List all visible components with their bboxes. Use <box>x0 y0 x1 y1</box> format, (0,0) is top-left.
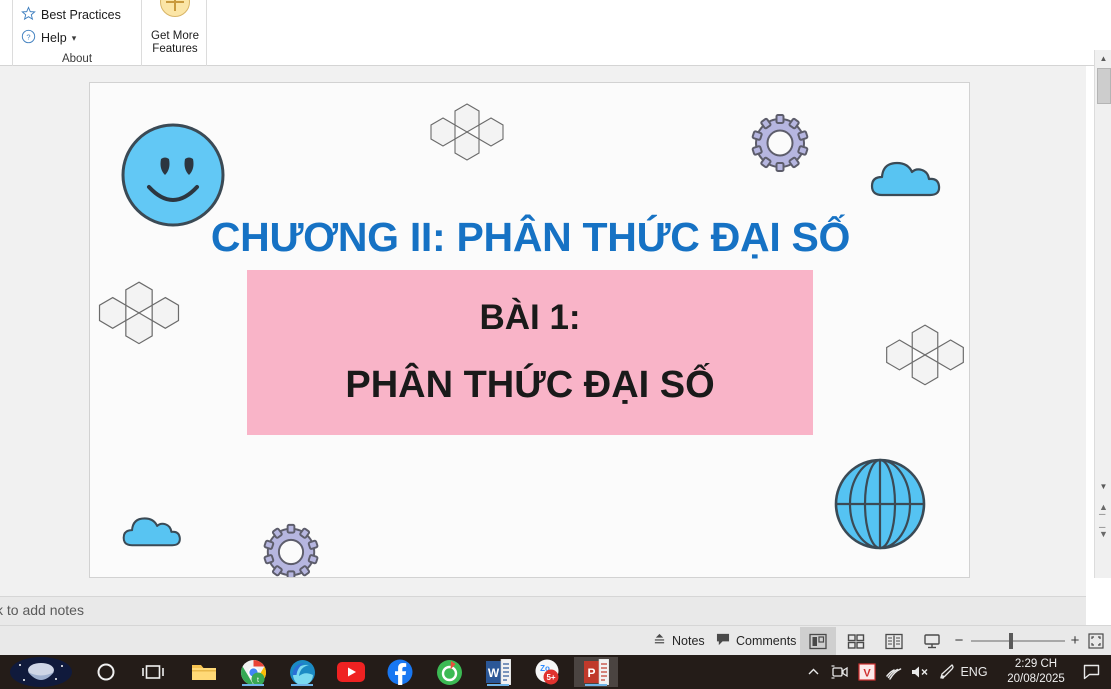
gear-top-right-icon[interactable] <box>749 112 811 179</box>
clock-widget[interactable]: 2:29 CH 20/08/2025 <box>999 655 1073 689</box>
clock-time: 2:29 CH <box>1015 657 1057 672</box>
ribbon-group-about: Best Practices ? Help ▾ About <box>12 0 142 66</box>
svg-text:V: V <box>863 668 871 680</box>
get-more-features-line2: Features <box>152 43 197 56</box>
vertical-scrollbar[interactable]: ▲ ▼ ▲─ ─▼ <box>1094 50 1111 578</box>
v-app-icon[interactable]: V <box>854 655 880 689</box>
notes-label: Notes <box>672 634 705 648</box>
svg-text:W: W <box>487 666 499 680</box>
powerpoint-window: Best Practices ? Help ▾ About Get More F… <box>0 0 1111 689</box>
wifi-icon[interactable] <box>880 655 906 689</box>
cortana-search-icon[interactable] <box>84 657 128 687</box>
notes-placeholder-text: k to add notes <box>0 602 84 618</box>
notification-center-icon[interactable] <box>1075 655 1107 689</box>
svg-text:?: ? <box>26 33 30 42</box>
next-slide-icon[interactable]: ─▼ <box>1095 522 1111 539</box>
hexagon-cluster-right-icon[interactable] <box>884 323 966 394</box>
facebook-icon[interactable] <box>378 657 422 687</box>
volume-muted-icon[interactable] <box>906 655 934 689</box>
ribbon-bar: Best Practices ? Help ▾ About Get More F… <box>0 0 1111 66</box>
ribbon-group-label-about: About <box>13 53 141 65</box>
view-reading-button[interactable] <box>876 627 912 655</box>
microsoft-powerpoint-icon[interactable]: P <box>574 657 618 687</box>
zoom-out-button[interactable]: − <box>952 634 966 648</box>
notes-icon <box>653 633 666 649</box>
hexagon-cluster-left-icon[interactable] <box>96 280 182 353</box>
pen-input-icon[interactable] <box>934 655 960 689</box>
gear-bottom-icon[interactable] <box>261 522 321 578</box>
help-label: Help <box>41 31 67 45</box>
svg-text:P: P <box>587 666 595 680</box>
language-indicator[interactable]: ENG <box>958 655 990 689</box>
svg-text:t: t <box>257 677 259 684</box>
best-practices-button[interactable]: Best Practices <box>21 6 121 24</box>
clock-date: 20/08/2025 <box>1007 672 1065 687</box>
start-button[interactable] <box>8 657 74 687</box>
slide-title-text[interactable]: CHƯƠNG II: PHÂN THỨC ĐẠI SỐ <box>90 214 970 261</box>
status-bar: Notes Comments <box>0 625 1111 655</box>
hexagon-cluster-top-icon[interactable] <box>429 102 505 169</box>
star-icon <box>21 6 36 24</box>
microsoft-edge-icon[interactable] <box>280 657 324 687</box>
cloud-top-right-icon[interactable] <box>870 157 956 204</box>
get-more-features-button[interactable]: Get More Features <box>143 0 207 66</box>
slide-canvas-area: CHƯƠNG II: PHÂN THỨC ĐẠI SỐ BÀI 1: PHÂN … <box>0 66 1086 596</box>
scrollbar-thumb[interactable] <box>1097 68 1111 104</box>
zoom-meetings-icon[interactable]: Zo 5+ <box>525 657 569 687</box>
slide-subtitle-box[interactable]: BÀI 1: PHÂN THỨC ĐẠI SỐ <box>247 270 813 435</box>
youtube-icon[interactable] <box>329 657 373 687</box>
comments-toggle-button[interactable]: Comments <box>708 626 804 656</box>
zoom-slider-track[interactable] <box>971 640 1065 642</box>
help-icon: ? <box>21 29 36 47</box>
fit-slide-to-window-button[interactable] <box>1086 631 1106 651</box>
file-explorer-icon[interactable] <box>182 657 226 687</box>
ribbon-group-get-more: Get More Features <box>143 0 207 66</box>
chevron-down-icon: ▾ <box>72 33 77 44</box>
get-more-features-line1: Get More <box>151 30 199 43</box>
scroll-up-icon[interactable]: ▲ <box>1095 50 1111 67</box>
globe-icon[interactable] <box>834 458 926 555</box>
google-chrome-icon[interactable]: t <box>231 657 275 687</box>
task-view-icon[interactable] <box>131 657 175 687</box>
slide-editing-surface[interactable]: CHƯƠNG II: PHÂN THỨC ĐẠI SỐ BÀI 1: PHÂN … <box>89 82 970 578</box>
notes-pane[interactable]: k to add notes <box>0 596 1086 625</box>
scroll-down-icon[interactable]: ▼ <box>1095 478 1111 495</box>
svg-text:5+: 5+ <box>546 673 555 682</box>
view-slide-show-button[interactable] <box>914 627 950 655</box>
cloud-bottom-left-icon[interactable] <box>122 513 194 554</box>
webcam-icon[interactable] <box>826 655 854 689</box>
comments-label: Comments <box>736 634 796 648</box>
plus-circle-icon <box>160 0 190 17</box>
zoom-in-button[interactable]: + <box>1068 634 1082 648</box>
view-normal-button[interactable] <box>800 627 836 655</box>
best-practices-label: Best Practices <box>41 8 121 22</box>
show-hidden-icons-button[interactable] <box>800 655 826 689</box>
previous-slide-icon[interactable]: ▲─ <box>1095 502 1111 519</box>
notes-toggle-button[interactable]: Notes <box>645 626 713 656</box>
app-green-icon[interactable] <box>427 657 471 687</box>
slide-subtitle-line1: BÀI 1: <box>479 298 580 338</box>
microsoft-word-icon[interactable]: W <box>476 657 520 687</box>
help-button[interactable]: ? Help ▾ <box>21 29 76 47</box>
zoom-slider-thumb[interactable] <box>1009 633 1013 649</box>
windows-taskbar: t <box>0 655 1111 689</box>
slide-subtitle-line2: PHÂN THỨC ĐẠI SỐ <box>345 364 714 407</box>
comment-icon <box>716 633 730 649</box>
view-slide-sorter-button[interactable] <box>838 627 874 655</box>
